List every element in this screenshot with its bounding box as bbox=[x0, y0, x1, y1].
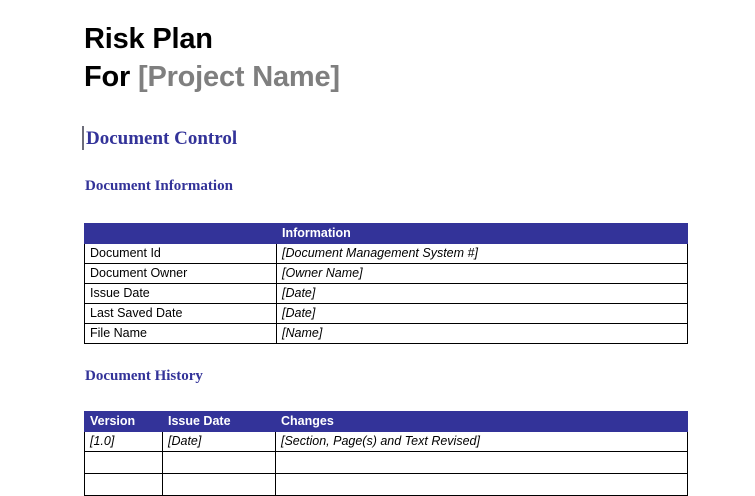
document-title-block: Risk Plan For [Project Name] bbox=[84, 0, 688, 96]
cell-value-last-saved-date[interactable]: [Date] bbox=[277, 304, 688, 324]
table-row[interactable]: Last Saved Date [Date] bbox=[85, 304, 688, 324]
table-header-row: Information bbox=[85, 224, 688, 244]
document-page: Risk Plan For [Project Name] Document Co… bbox=[0, 0, 755, 446]
table-row[interactable]: File Name [Name] bbox=[85, 324, 688, 344]
column-header-version: Version bbox=[85, 412, 163, 432]
table-row[interactable] bbox=[85, 474, 688, 496]
column-header-blank bbox=[85, 224, 277, 244]
cell-label-issue-date: Issue Date bbox=[85, 284, 277, 304]
column-header-issue-date: Issue Date bbox=[163, 412, 276, 432]
column-header-changes: Changes bbox=[276, 412, 688, 432]
cell-version-2[interactable] bbox=[85, 452, 163, 474]
document-information-table: Information Document Id [Document Manage… bbox=[84, 223, 688, 344]
table-row[interactable]: Document Id [Document Management System … bbox=[85, 244, 688, 264]
cell-issue-date-3[interactable] bbox=[163, 474, 276, 496]
document-title-project-placeholder: [Project Name] bbox=[138, 61, 340, 93]
cell-label-document-owner: Document Owner bbox=[85, 264, 277, 284]
cell-issue-date-1[interactable]: [Date] bbox=[163, 432, 276, 452]
heading-document-history: Document History bbox=[84, 367, 688, 385]
table-row[interactable]: Document Owner [Owner Name] bbox=[85, 264, 688, 284]
cell-changes-2[interactable] bbox=[276, 452, 688, 474]
cell-version-3[interactable] bbox=[85, 474, 163, 496]
document-history-table: Version Issue Date Changes [1.0] [Date] … bbox=[84, 411, 688, 496]
document-content: Risk Plan For [Project Name] Document Co… bbox=[84, 0, 688, 496]
cell-changes-1[interactable]: [Section, Page(s) and Text Revised] bbox=[276, 432, 688, 452]
column-header-information: Information bbox=[277, 224, 688, 244]
heading-document-information: Document Information bbox=[84, 177, 688, 195]
table-row[interactable] bbox=[85, 452, 688, 474]
cell-changes-3[interactable] bbox=[276, 474, 688, 496]
table-row[interactable]: Issue Date [Date] bbox=[85, 284, 688, 304]
document-title-line2: For [Project Name] bbox=[84, 58, 688, 96]
cell-label-last-saved-date: Last Saved Date bbox=[85, 304, 277, 324]
heading-document-control: Document Control bbox=[84, 128, 688, 150]
table-header-row: Version Issue Date Changes bbox=[85, 412, 688, 432]
cell-value-document-owner[interactable]: [Owner Name] bbox=[277, 264, 688, 284]
document-control-heading-wrap: Document Control bbox=[84, 128, 688, 150]
cell-label-file-name: File Name bbox=[85, 324, 277, 344]
cell-issue-date-2[interactable] bbox=[163, 452, 276, 474]
text-cursor-caret bbox=[82, 126, 84, 150]
cell-version-1[interactable]: [1.0] bbox=[85, 432, 163, 452]
document-title-line1: Risk Plan bbox=[84, 0, 688, 58]
cell-label-document-id: Document Id bbox=[85, 244, 277, 264]
cell-value-document-id[interactable]: [Document Management System #] bbox=[277, 244, 688, 264]
cell-value-issue-date[interactable]: [Date] bbox=[277, 284, 688, 304]
table-row[interactable]: [1.0] [Date] [Section, Page(s) and Text … bbox=[85, 432, 688, 452]
document-title-for-label: For bbox=[84, 61, 130, 93]
cell-value-file-name[interactable]: [Name] bbox=[277, 324, 688, 344]
